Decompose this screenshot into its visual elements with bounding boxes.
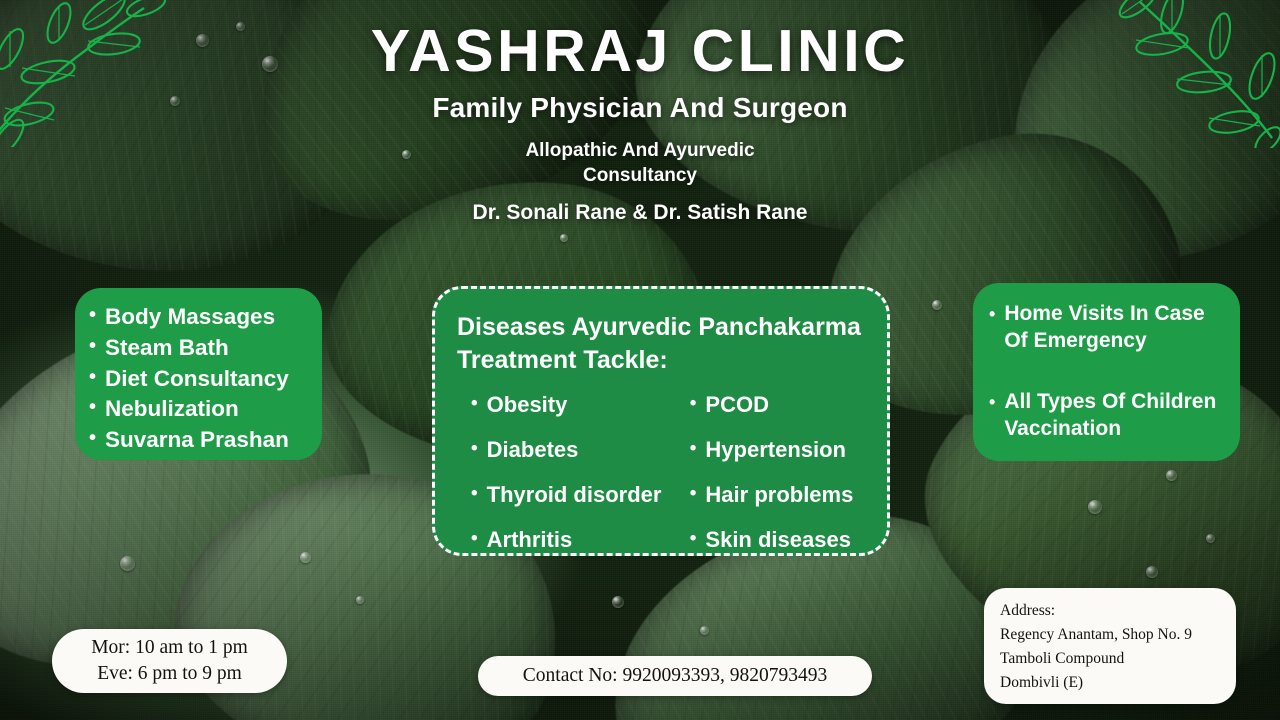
disease-label: Skin diseases <box>705 529 851 551</box>
disease-label: Hypertension <box>705 439 846 461</box>
emergency-label: All Types Of Children Vaccination <box>1004 389 1226 443</box>
bullet-icon: • <box>89 364 96 387</box>
bullet-icon: • <box>690 394 697 413</box>
subline-line-2: Consultancy <box>0 163 1280 188</box>
list-item: •Diabetes <box>471 439 662 461</box>
disease-label: Thyroid disorder <box>487 484 662 506</box>
disease-label: Obesity <box>487 394 568 416</box>
emergency-card: •Home Visits In Case Of Emergency •All T… <box>973 283 1240 461</box>
address-line-1: Regency Anantam, Shop No. 9 <box>1000 624 1192 646</box>
list-item: •Skin diseases <box>690 529 867 551</box>
subline-line-1: Allopathic And Ayurvedic <box>0 138 1280 163</box>
clinic-tagline: Family Physician And Surgeon <box>0 92 1280 124</box>
timings-pill: Mor: 10 am to 1 pm Eve: 6 pm to 9 pm <box>52 629 287 693</box>
bullet-icon: • <box>690 439 697 458</box>
list-item: •Body Massages <box>89 302 310 333</box>
bullet-icon: • <box>471 439 478 458</box>
address-line-3: Dombivli (E) <box>1000 672 1083 694</box>
list-item: •All Types Of Children Vaccination <box>989 389 1226 443</box>
timings-morning: Mor: 10 am to 1 pm <box>91 637 248 659</box>
bullet-icon: • <box>89 302 96 325</box>
address-box: Address: Regency Anantam, Shop No. 9 Tam… <box>984 588 1236 704</box>
bullet-icon: • <box>89 394 96 417</box>
list-item: •Home Visits In Case Of Emergency <box>989 301 1226 355</box>
services-card: •Body Massages •Steam Bath •Diet Consult… <box>75 288 322 460</box>
services-list: •Body Massages •Steam Bath •Diet Consult… <box>89 302 310 456</box>
contact-pill[interactable]: Contact No: 9920093393, 9820793493 <box>478 656 872 696</box>
list-item: •Obesity <box>471 394 662 416</box>
emergency-label: Home Visits In Case Of Emergency <box>1004 301 1226 355</box>
list-item: •Suvarna Prashan <box>89 425 310 456</box>
service-label: Nebulization <box>105 394 239 425</box>
list-item: •Diet Consultancy <box>89 364 310 395</box>
diseases-list-left: •Obesity •Diabetes •Thyroid disorder •Ar… <box>471 394 662 574</box>
diseases-list-right: •PCOD •Hypertension •Hair problems •Skin… <box>676 394 867 574</box>
list-item: •PCOD <box>690 394 867 416</box>
list-item: •Hair problems <box>690 484 867 506</box>
service-label: Suvarna Prashan <box>105 425 289 456</box>
address-line-2: Tamboli Compound <box>1000 648 1124 670</box>
bullet-icon: • <box>690 484 697 503</box>
list-item: •Steam Bath <box>89 333 310 364</box>
diseases-columns: •Obesity •Diabetes •Thyroid disorder •Ar… <box>457 394 867 574</box>
clinic-subline: Allopathic And Ayurvedic Consultancy <box>0 138 1280 188</box>
list-item: •Thyroid disorder <box>471 484 662 506</box>
bullet-icon: • <box>471 484 478 503</box>
list-item: •Hypertension <box>690 439 867 461</box>
poster-header: YASHRAJ CLINIC Family Physician And Surg… <box>0 22 1280 225</box>
address-label: Address: <box>1000 600 1055 622</box>
disease-label: Arthritis <box>487 529 573 551</box>
list-item: •Arthritis <box>471 529 662 551</box>
disease-label: Diabetes <box>487 439 579 461</box>
bullet-icon: • <box>471 529 478 548</box>
disease-label: PCOD <box>705 394 769 416</box>
service-label: Steam Bath <box>105 333 229 364</box>
list-item: •Nebulization <box>89 394 310 425</box>
timings-evening: Eve: 6 pm to 9 pm <box>97 663 242 685</box>
bullet-icon: • <box>471 394 478 413</box>
service-label: Body Massages <box>105 302 275 333</box>
doctor-names: Dr. Sonali Rane & Dr. Satish Rane <box>0 201 1280 225</box>
poster-canvas: YASHRAJ CLINIC Family Physician And Surg… <box>0 0 1280 720</box>
diseases-card-title: Diseases Ayurvedic Panchakarma Treatment… <box>457 311 867 376</box>
bullet-icon: • <box>89 333 96 356</box>
service-label: Diet Consultancy <box>105 364 289 395</box>
disease-label: Hair problems <box>705 484 853 506</box>
bullet-icon: • <box>89 425 96 448</box>
bullet-icon: • <box>989 389 995 411</box>
emergency-list: •Home Visits In Case Of Emergency •All T… <box>989 301 1226 443</box>
contact-text[interactable]: Contact No: 9920093393, 9820793493 <box>523 665 827 687</box>
diseases-card: Diseases Ayurvedic Panchakarma Treatment… <box>432 286 890 556</box>
bullet-icon: • <box>690 529 697 548</box>
clinic-name: YASHRAJ CLINIC <box>0 22 1280 81</box>
bullet-icon: • <box>989 301 995 323</box>
